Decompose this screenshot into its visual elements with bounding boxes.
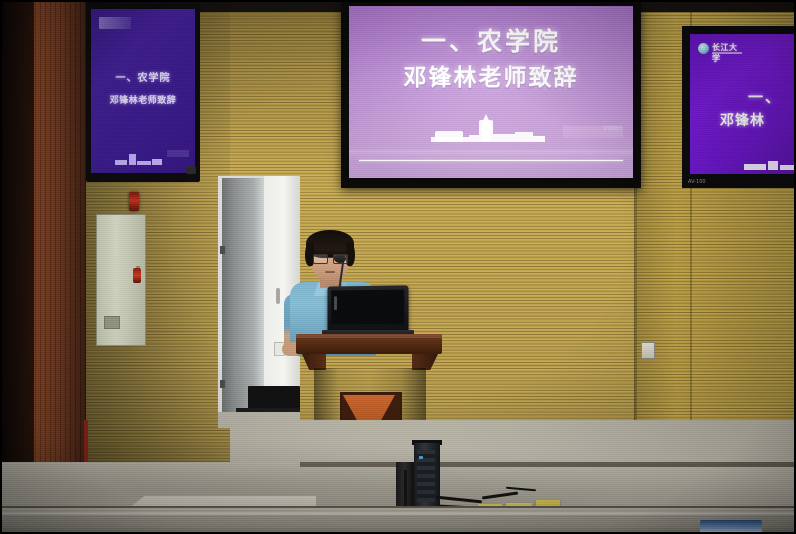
skyline-building: [780, 165, 796, 170]
left-monitor-display[interactable]: 一、农学院 邓锋林老师致辞: [91, 9, 195, 173]
campus-skyline-graphic: [111, 149, 175, 165]
skyline-building: [152, 159, 162, 165]
university-logo: 长江大学: [698, 42, 742, 56]
skyline-baseline: [359, 160, 623, 161]
door-hinge-icon: [220, 380, 225, 388]
lectern-top-edge: [296, 334, 442, 338]
status-led-icon: [419, 456, 423, 459]
audience-chair: [700, 520, 762, 534]
lecture-hall-photo: 一、农学院 邓锋林老师致辞 学院简介 一、农学院 邓锋林老师致辞: [0, 0, 796, 534]
wall-baseboard: [300, 462, 796, 467]
right-slide-line2: 邓锋林: [720, 110, 765, 130]
skyline-building: [431, 137, 469, 142]
fire-alarm-pull-icon: [133, 268, 141, 283]
monitor-stand: [186, 166, 196, 174]
skyline-building: [137, 161, 151, 165]
right-monitor-frame: 长江大学 一、 邓锋林 AV-100: [682, 26, 796, 188]
slide-title-line1: 一、农学院: [349, 22, 633, 58]
eyeglasses-icon: [313, 254, 328, 264]
skyline-building: [515, 132, 533, 142]
panel-vent: [104, 316, 120, 329]
door-hinge-icon: [220, 246, 225, 254]
skyline-tower: [768, 161, 778, 170]
laptop-bezel: [331, 290, 404, 325]
fire-alarm-strobe-icon: [129, 192, 139, 211]
presenter-mouth: [325, 271, 335, 273]
microphone-icon[interactable]: [334, 254, 346, 263]
university-emblem-icon: [698, 43, 709, 54]
projection-screen-frame: 一、农学院 邓锋林老师致辞 学院简介: [341, 0, 641, 188]
slide-footnote: 学院简介: [563, 126, 623, 138]
right-monitor-display[interactable]: 长江大学 一、 邓锋林: [690, 34, 796, 174]
skyline-building: [115, 160, 127, 165]
left-slide-line1: 一、农学院: [91, 69, 195, 84]
skyline-tower: [129, 154, 136, 165]
laptop-screen[interactable]: [327, 285, 408, 332]
laptop-logo-icon: [334, 296, 337, 310]
wall-outlet[interactable]: [641, 342, 655, 359]
screen-reflection: [349, 150, 633, 158]
monitor-model-label: AV-100: [688, 179, 706, 185]
stage-edge-highlight: [0, 512, 796, 515]
skyline-building: [744, 164, 766, 170]
left-monitor-frame: 一、农学院 邓锋林老师致辞: [86, 4, 200, 182]
eyeglasses-bridge: [326, 257, 333, 258]
university-logo-underline: [712, 52, 742, 54]
campus-skyline-graphic: [744, 156, 796, 170]
right-slide-line1: 一、: [748, 86, 782, 107]
university-logo-icon: [99, 17, 131, 29]
skyline-building: [493, 134, 515, 142]
skyline-building: [469, 135, 479, 142]
skyline-building: [533, 136, 545, 142]
slide-footnote: [167, 150, 189, 157]
left-slide-line2: 邓锋林老师致辞: [91, 93, 195, 106]
slide-title-line2: 邓锋林老师致辞: [349, 58, 633, 92]
